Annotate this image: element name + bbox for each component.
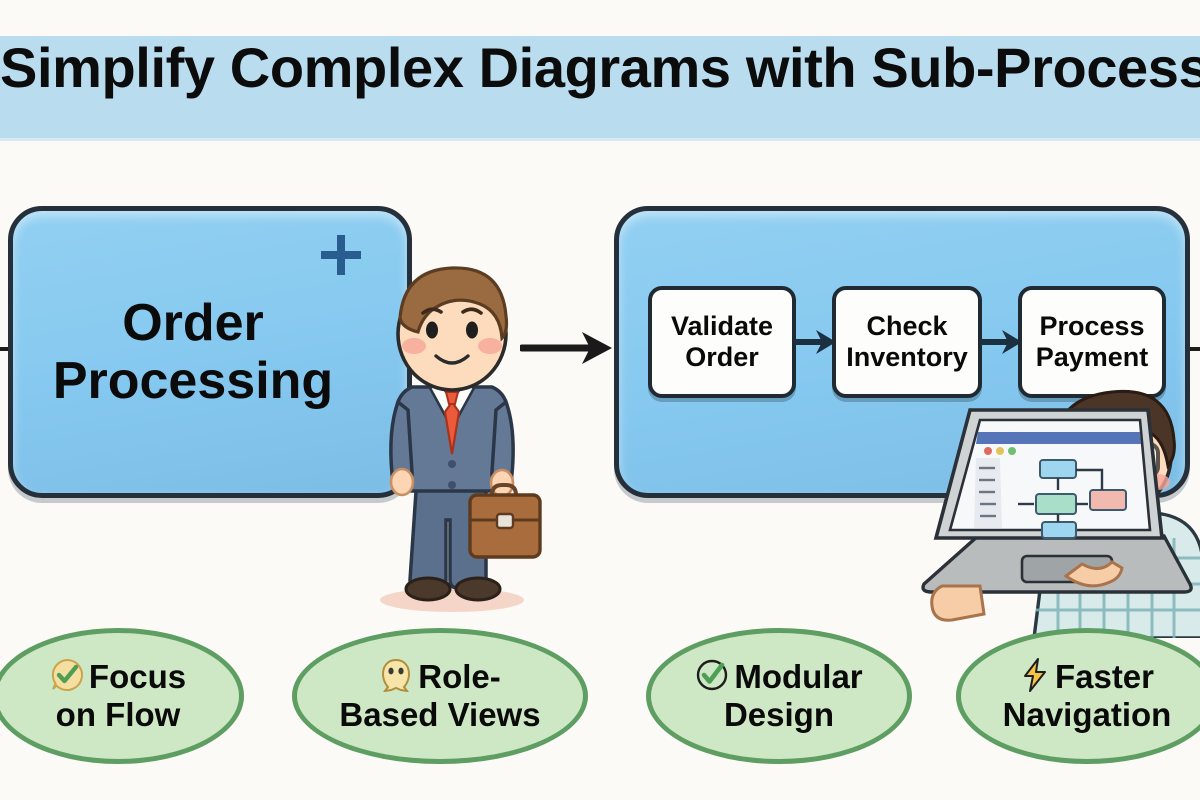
page-title: Simplify Complex Diagrams with Sub-Proce… bbox=[0, 40, 1200, 96]
subprocess-step-validate-order[interactable]: Validate Order bbox=[648, 286, 796, 398]
benefit-label-line2: on Flow bbox=[50, 696, 186, 734]
role-mask-icon bbox=[379, 658, 413, 692]
check-badge-icon bbox=[50, 658, 84, 692]
step-label-line2: Order bbox=[679, 342, 765, 372]
benefit-label-line1: Focus bbox=[89, 658, 186, 695]
illustration-canvas: Simplify Complex Diagrams with Sub-Proce… bbox=[0, 0, 1200, 800]
benefit-focus-on-flow[interactable]: Focus on Flow bbox=[0, 628, 244, 764]
laptop-person-illustration bbox=[918, 388, 1200, 638]
benefit-role-based-views[interactable]: Role- Based Views bbox=[292, 628, 588, 764]
benefit-label: Focus on Flow bbox=[42, 658, 194, 735]
benefit-label-line2: Navigation bbox=[1003, 696, 1172, 734]
benefit-modular-design[interactable]: Modular Design bbox=[646, 628, 912, 764]
check-circle-icon bbox=[695, 658, 729, 692]
parent-process-label-line2: Processing bbox=[23, 352, 363, 410]
benefit-label: Faster Navigation bbox=[995, 658, 1180, 735]
benefit-label-line2: Based Views bbox=[339, 696, 540, 734]
subprocess-step-process-payment[interactable]: Process Payment bbox=[1018, 286, 1166, 398]
benefit-label-line1: Faster bbox=[1055, 658, 1154, 695]
subprocess-step-label: Check Inventory bbox=[834, 311, 980, 373]
step-label-line2: Inventory bbox=[840, 342, 974, 372]
subprocess-step-check-inventory[interactable]: Check Inventory bbox=[832, 286, 982, 398]
benefit-label: Modular Design bbox=[687, 658, 870, 735]
benefit-label-line1: Modular bbox=[734, 658, 862, 695]
step-label-line1: Process bbox=[1033, 311, 1150, 341]
lightning-bolt-icon bbox=[1020, 658, 1050, 692]
subprocess-step-label: Process Payment bbox=[1024, 311, 1161, 373]
parent-process-label-line1: Order bbox=[23, 294, 363, 352]
step-label-line1: Check bbox=[860, 311, 953, 341]
parent-process-label: Order Processing bbox=[13, 294, 407, 410]
businessman-illustration bbox=[352, 252, 552, 612]
benefit-label-line2: Design bbox=[695, 696, 862, 734]
outgoing-connector-stub bbox=[1190, 347, 1200, 351]
step-label-line2: Payment bbox=[1030, 342, 1155, 372]
step-label-line1: Validate bbox=[665, 311, 779, 341]
benefit-label: Role- Based Views bbox=[331, 658, 548, 735]
benefit-faster-navigation[interactable]: Faster Navigation bbox=[956, 628, 1200, 764]
subprocess-step-label: Validate Order bbox=[659, 311, 785, 373]
benefit-label-line1: Role- bbox=[418, 658, 501, 695]
